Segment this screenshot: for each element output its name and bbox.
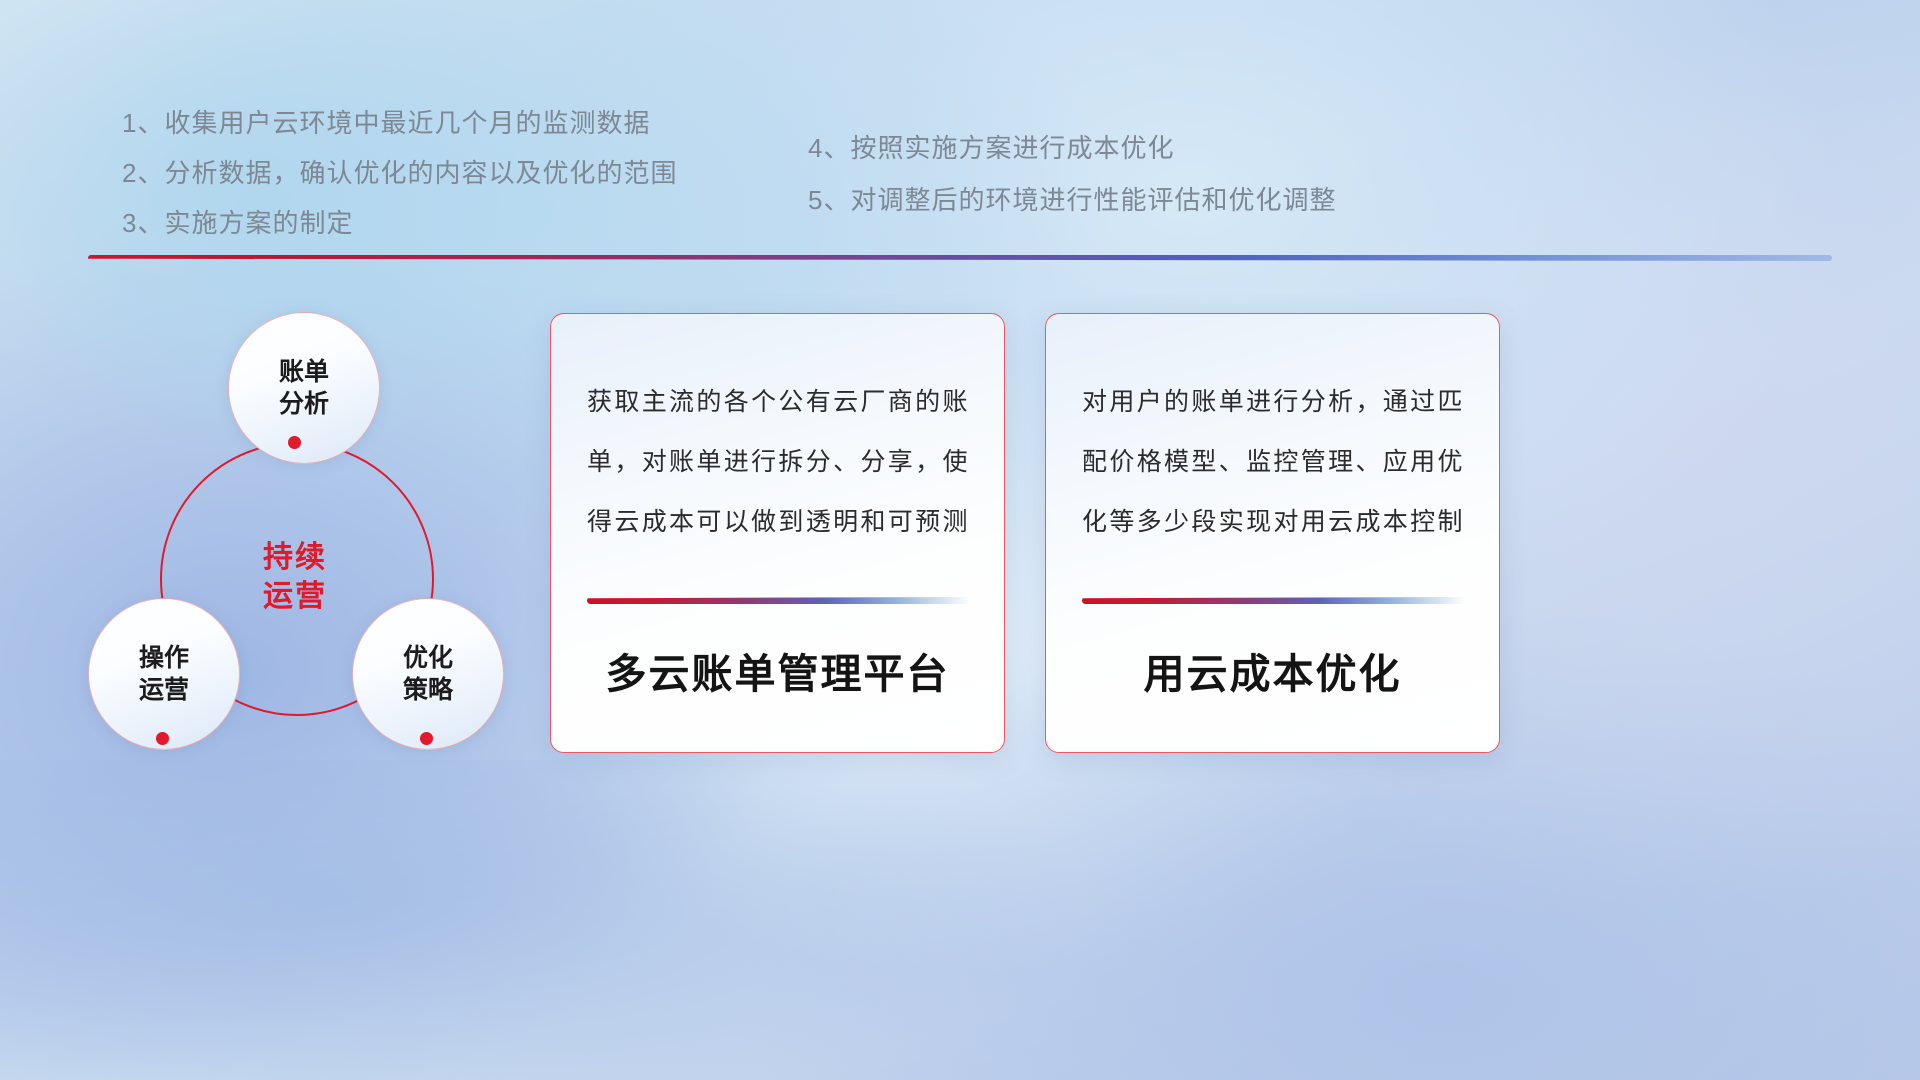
card-body-text: 对用户的账单进行分析，通过匹配价格模型、监控管理、应用优化等多少段实现对用云成本… [1082, 372, 1463, 552]
card-divider [587, 597, 970, 604]
venn-diagram: 账单 分析 操作 运营 优化 策略 持续 运营 [80, 290, 540, 770]
step-item: 5、对调整后的环境进行性能评估和优化调整 [808, 174, 1336, 226]
connector-node-top [288, 436, 301, 449]
slide-canvas: 1、收集用户云环境中最近几个月的监测数据 2、分析数据，确认优化的内容以及优化的… [0, 0, 1920, 1080]
center-label-line1: 持续 [263, 541, 327, 574]
steps-list-left: 1、收集用户云环境中最近几个月的监测数据 2、分析数据，确认优化的内容以及优化的… [122, 98, 677, 248]
connector-node-right [420, 732, 433, 745]
card-title: 多云账单管理平台 [551, 640, 1004, 700]
step-item: 1、收集用户云环境中最近几个月的监测数据 [122, 98, 677, 148]
card-cloud-cost-optimization[interactable]: 对用户的账单进行分析，通过匹配价格模型、监控管理、应用优化等多少段实现对用云成本… [1045, 313, 1500, 753]
card-title: 用云成本优化 [1046, 640, 1499, 700]
step-item: 2、分析数据，确认优化的内容以及优化的范围 [122, 148, 677, 198]
step-item: 3、实施方案的制定 [122, 198, 677, 248]
bubble-label-line1: 账单 [279, 358, 329, 386]
steps-list-right: 4、按照实施方案进行成本优化 5、对调整后的环境进行性能评估和优化调整 [808, 122, 1336, 226]
section-divider [88, 255, 1832, 261]
center-label-line2: 运营 [263, 580, 327, 613]
center-ring-label: 持续 运营 [160, 442, 430, 712]
card-body-text: 获取主流的各个公有云厂商的账单，对账单进行拆分、分享，使得云成本可以做到透明和可… [587, 372, 968, 552]
connector-node-left [156, 732, 169, 745]
step-item: 4、按照实施方案进行成本优化 [808, 122, 1336, 174]
card-divider [1082, 597, 1465, 604]
bubble-label-line2: 分析 [279, 390, 329, 418]
card-multicloud-billing[interactable]: 获取主流的各个公有云厂商的账单，对账单进行拆分、分享，使得云成本可以做到透明和可… [550, 313, 1005, 753]
